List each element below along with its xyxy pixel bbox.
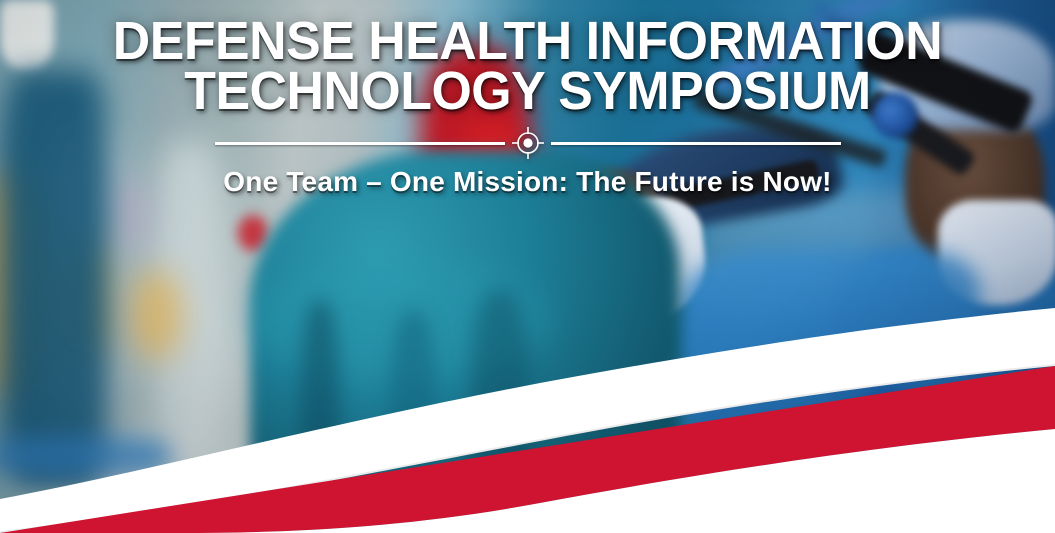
banner-title: DEFENSE HEALTH INFORMATION TECHNOLOGY SY… [0, 16, 1055, 116]
dhits-hero-banner: DEFENSE HEALTH INFORMATION TECHNOLOGY SY… [0, 0, 1055, 533]
bottom-swoosh [0, 303, 1055, 533]
crosshair-target-icon [511, 126, 545, 160]
banner-tagline: One Team – One Mission: The Future is No… [0, 166, 1055, 198]
divider-rule-left [215, 142, 505, 145]
title-divider [0, 132, 1055, 154]
title-line-1: DEFENSE HEALTH INFORMATION [21, 16, 1034, 66]
divider-rule-right [551, 142, 841, 145]
title-line-2: TECHNOLOGY SYMPOSIUM [21, 66, 1034, 116]
